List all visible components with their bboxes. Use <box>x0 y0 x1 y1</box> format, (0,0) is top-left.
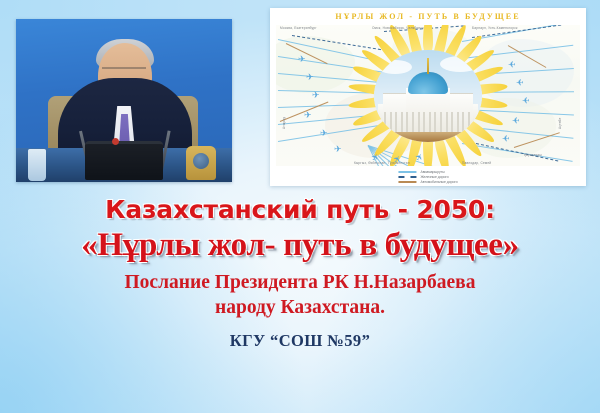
akorda-column <box>434 112 436 134</box>
akorda-column <box>406 112 408 134</box>
legend-highway-swatch <box>398 181 416 183</box>
plane-icon: ✈ <box>306 73 314 82</box>
akorda-column <box>423 112 425 134</box>
plane-icon: ✈ <box>522 95 530 104</box>
plane-icon: ✈ <box>312 91 320 100</box>
akorda-column <box>446 112 448 134</box>
akorda-column <box>451 112 453 134</box>
map-title: НҰРЛЫ ЖОЛ - ПУТЬ В БУДУЩЕЕ <box>270 12 586 21</box>
map-city-label: Павлодар, Семей <box>462 161 491 165</box>
akorda-column <box>412 112 414 134</box>
photo-desk-clock <box>186 146 216 180</box>
akorda-cloud <box>440 56 480 72</box>
plane-icon: ✈ <box>512 115 520 124</box>
photo-content <box>16 19 232 182</box>
map-city-label: Ақтөбе <box>558 117 562 129</box>
president-photo <box>16 19 232 182</box>
legend-label: Железные дороги <box>420 175 448 179</box>
map-city-label: Атырау <box>282 117 286 129</box>
photo-console <box>85 141 163 180</box>
legend-label: Автомобильные дороги <box>420 180 457 184</box>
legend-item: Авиамаршруты <box>398 170 457 174</box>
legend-item: Автомобильные дороги <box>398 180 457 184</box>
title-text-block: Казахстанский путь - 2050: «Нұрлы жол- п… <box>0 196 600 350</box>
plane-icon: ✈ <box>516 77 524 86</box>
akorda-column <box>384 112 386 134</box>
plane-icon: ✈ <box>304 111 312 120</box>
plane-icon: ✈ <box>334 145 342 154</box>
nurly-zhol-map: НҰРЛЫ ЖОЛ - ПУТЬ В БУДУЩЕЕ ✈✈✈✈✈✈✈✈✈✈✈✈✈… <box>270 8 586 186</box>
slide-title-line1: Казахстанский путь - 2050: <box>0 196 600 224</box>
akorda-column <box>462 112 464 134</box>
photo-water-glass <box>28 149 46 181</box>
plane-icon: ✈ <box>298 55 306 64</box>
map-city-label: Омск, Новосибирск, Челябинск <box>372 26 424 30</box>
plane-icon: ✈ <box>502 133 510 142</box>
plane-icon: ✈ <box>508 59 516 68</box>
akorda-column <box>429 112 431 134</box>
akorda-column <box>457 112 459 134</box>
akorda-spire <box>427 58 429 74</box>
map-canvas: ✈✈✈✈✈✈✈✈✈✈✈✈✈✈ Москва, ЕкатеринбургОмск,… <box>276 25 580 166</box>
akorda-column <box>418 112 420 134</box>
map-city-label: Москва, Екатеринбург <box>280 26 317 30</box>
slide-subtitle-line1: Послание Президента РК Н.Назарбаева <box>0 271 600 296</box>
akorda-column <box>401 112 403 134</box>
akorda-base <box>380 132 476 142</box>
map-city-label: Барнаул, Усть-Каменогорск <box>472 26 518 30</box>
map-city-label: Қарағанды <box>524 153 542 157</box>
akorda-column <box>440 112 442 134</box>
akorda-column <box>395 112 397 134</box>
akorda-cloud <box>378 60 412 74</box>
presentation-slide: НҰРЛЫ ЖОЛ - ПУТЬ В БУДУЩЕЕ ✈✈✈✈✈✈✈✈✈✈✈✈✈… <box>0 0 600 413</box>
map-legend: Авиамаршруты Железные дороги Автомобильн… <box>398 170 457 184</box>
legend-label: Авиамаршруты <box>420 170 444 174</box>
slide-title-line2: «Нұрлы жол- путь в будущее» <box>0 227 600 265</box>
akorda-column <box>468 112 470 134</box>
slide-subtitle-line2: народу Казахстана. <box>0 296 600 321</box>
legend-railway-swatch <box>398 176 416 178</box>
legend-item: Железные дороги <box>398 175 457 179</box>
school-name: КГУ “СОШ №59” <box>0 331 600 351</box>
legend-air-route-swatch <box>398 171 416 173</box>
akorda-palace-image <box>374 50 482 142</box>
plane-icon: ✈ <box>320 129 328 138</box>
akorda-column <box>390 112 392 134</box>
